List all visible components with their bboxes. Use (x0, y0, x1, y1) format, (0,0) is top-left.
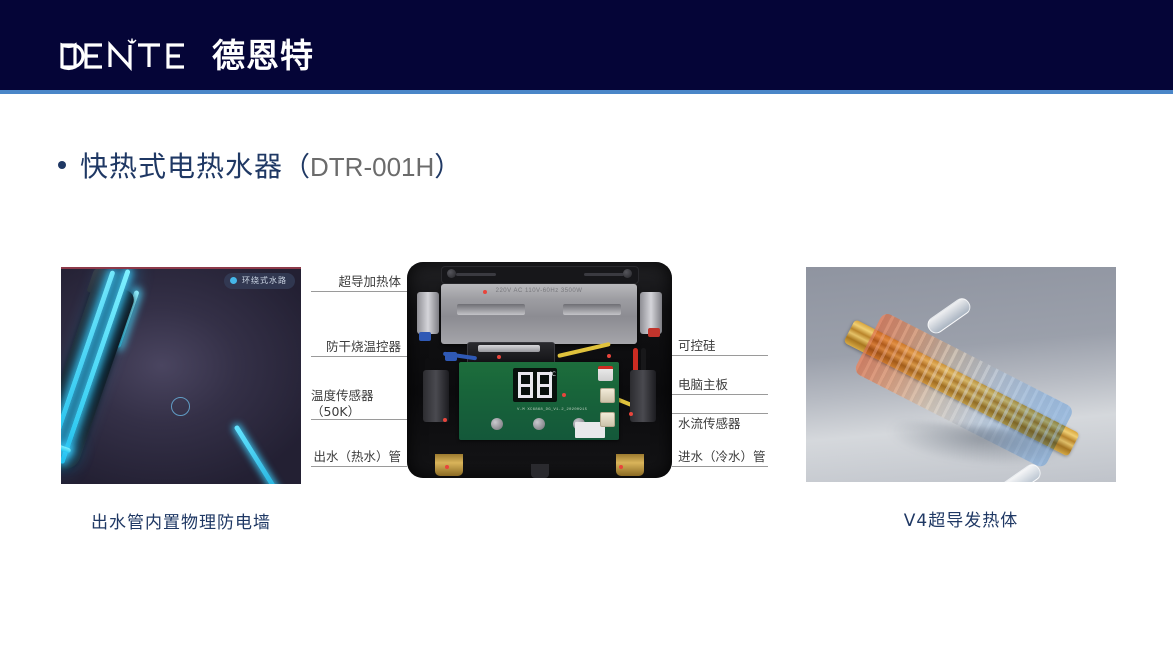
marker-flow-sensor (629, 412, 633, 416)
callout-thermostat: 防干烧温控器 (225, 339, 401, 355)
v4-illustration (806, 267, 1116, 482)
bullet-icon (58, 161, 66, 169)
page-title: 快热式电热水器 （ DTR-001H ） (58, 145, 461, 187)
terminal-red-1 (648, 328, 660, 337)
figure-right-caption: V4超导发热体 (806, 506, 1116, 531)
lead-line-inlet (672, 466, 768, 467)
heating-block-emboss: 220V AC 110V-60Hz 3500W (489, 288, 589, 302)
top-lid (441, 266, 639, 284)
v4-port-top (924, 295, 973, 336)
lead-line-triac (672, 355, 768, 356)
pipe-body (61, 267, 147, 484)
callout-heating-block: 超导加热体 (225, 274, 401, 290)
dente-wordmark-icon (58, 38, 208, 74)
thermostat-bar (478, 345, 540, 352)
heating-block: 220V AC 110V-60Hz 3500W (441, 284, 637, 344)
heating-slot-left (457, 304, 525, 315)
connector-red (598, 366, 613, 381)
product-model: DTR-001H (310, 152, 434, 183)
marker-temp-sensor (443, 418, 447, 422)
marker-heating-block (483, 290, 487, 294)
lead-line-mainboard (672, 394, 768, 395)
callout-temp-sensor: 温度传感器 （50K） (225, 388, 401, 420)
pcb-button-1 (491, 418, 503, 430)
header-accent-line (0, 90, 1173, 94)
marker-inlet (619, 465, 623, 469)
capacitor-left (423, 370, 449, 422)
marker-mainboard (562, 393, 566, 397)
connector-white-1 (600, 388, 615, 403)
marker-outlet (445, 465, 449, 469)
brand-logo: 德恩特 (58, 33, 314, 78)
led-digit-1 (518, 372, 533, 398)
title-close-paren: ） (434, 145, 461, 184)
wire-yellow (557, 342, 611, 358)
brand-name-cn: 德恩特 (212, 39, 314, 72)
heating-slot-right (563, 304, 621, 315)
bottom-nozzle (531, 464, 549, 478)
screw-left-icon (447, 269, 456, 278)
pcb-silkscreen: V-M XC6868_DG_V1.2_20200915 (517, 408, 587, 413)
fitting-left (417, 292, 439, 334)
page-title-text: 快热式电热水器 (80, 147, 283, 187)
page-header: 德恩特 (0, 0, 1173, 90)
outlet-pipe-fitting (435, 454, 463, 476)
lead-line-heating-block (311, 291, 407, 292)
led-display: ℃ (513, 368, 557, 402)
product-photo: 220V AC 110V-60Hz 3500W ℃ V-M XC6868_DG_… (407, 262, 672, 478)
capacitor-right (630, 370, 656, 422)
lead-line-outlet (311, 466, 407, 467)
figure-left-caption: 出水管内置物理防电墙 (61, 508, 301, 533)
lead-line-flow-sensor (672, 413, 768, 414)
marker-triac (607, 354, 611, 358)
control-pcb: ℃ V-M XC6868_DG_V1.2_20200915 (459, 362, 619, 440)
highlight-ring-icon (171, 397, 190, 416)
connector-white-2 (600, 412, 615, 427)
figure-product-exploded: 220V AC 110V-60Hz 3500W ℃ V-M XC6868_DG_… (407, 262, 672, 478)
callout-outlet-pipe: 出水（热水）管 (225, 449, 401, 465)
terminal-blue-1 (419, 332, 431, 341)
marker-thermostat (497, 355, 501, 359)
lead-line-thermostat (311, 356, 407, 357)
led-unit-label: ℃ (549, 371, 556, 378)
title-open-paren: （ (283, 145, 310, 184)
figure-v4-element: V4超导发热体 (806, 267, 1116, 531)
pcb-button-2 (533, 418, 545, 430)
screw-right-icon (623, 269, 632, 278)
